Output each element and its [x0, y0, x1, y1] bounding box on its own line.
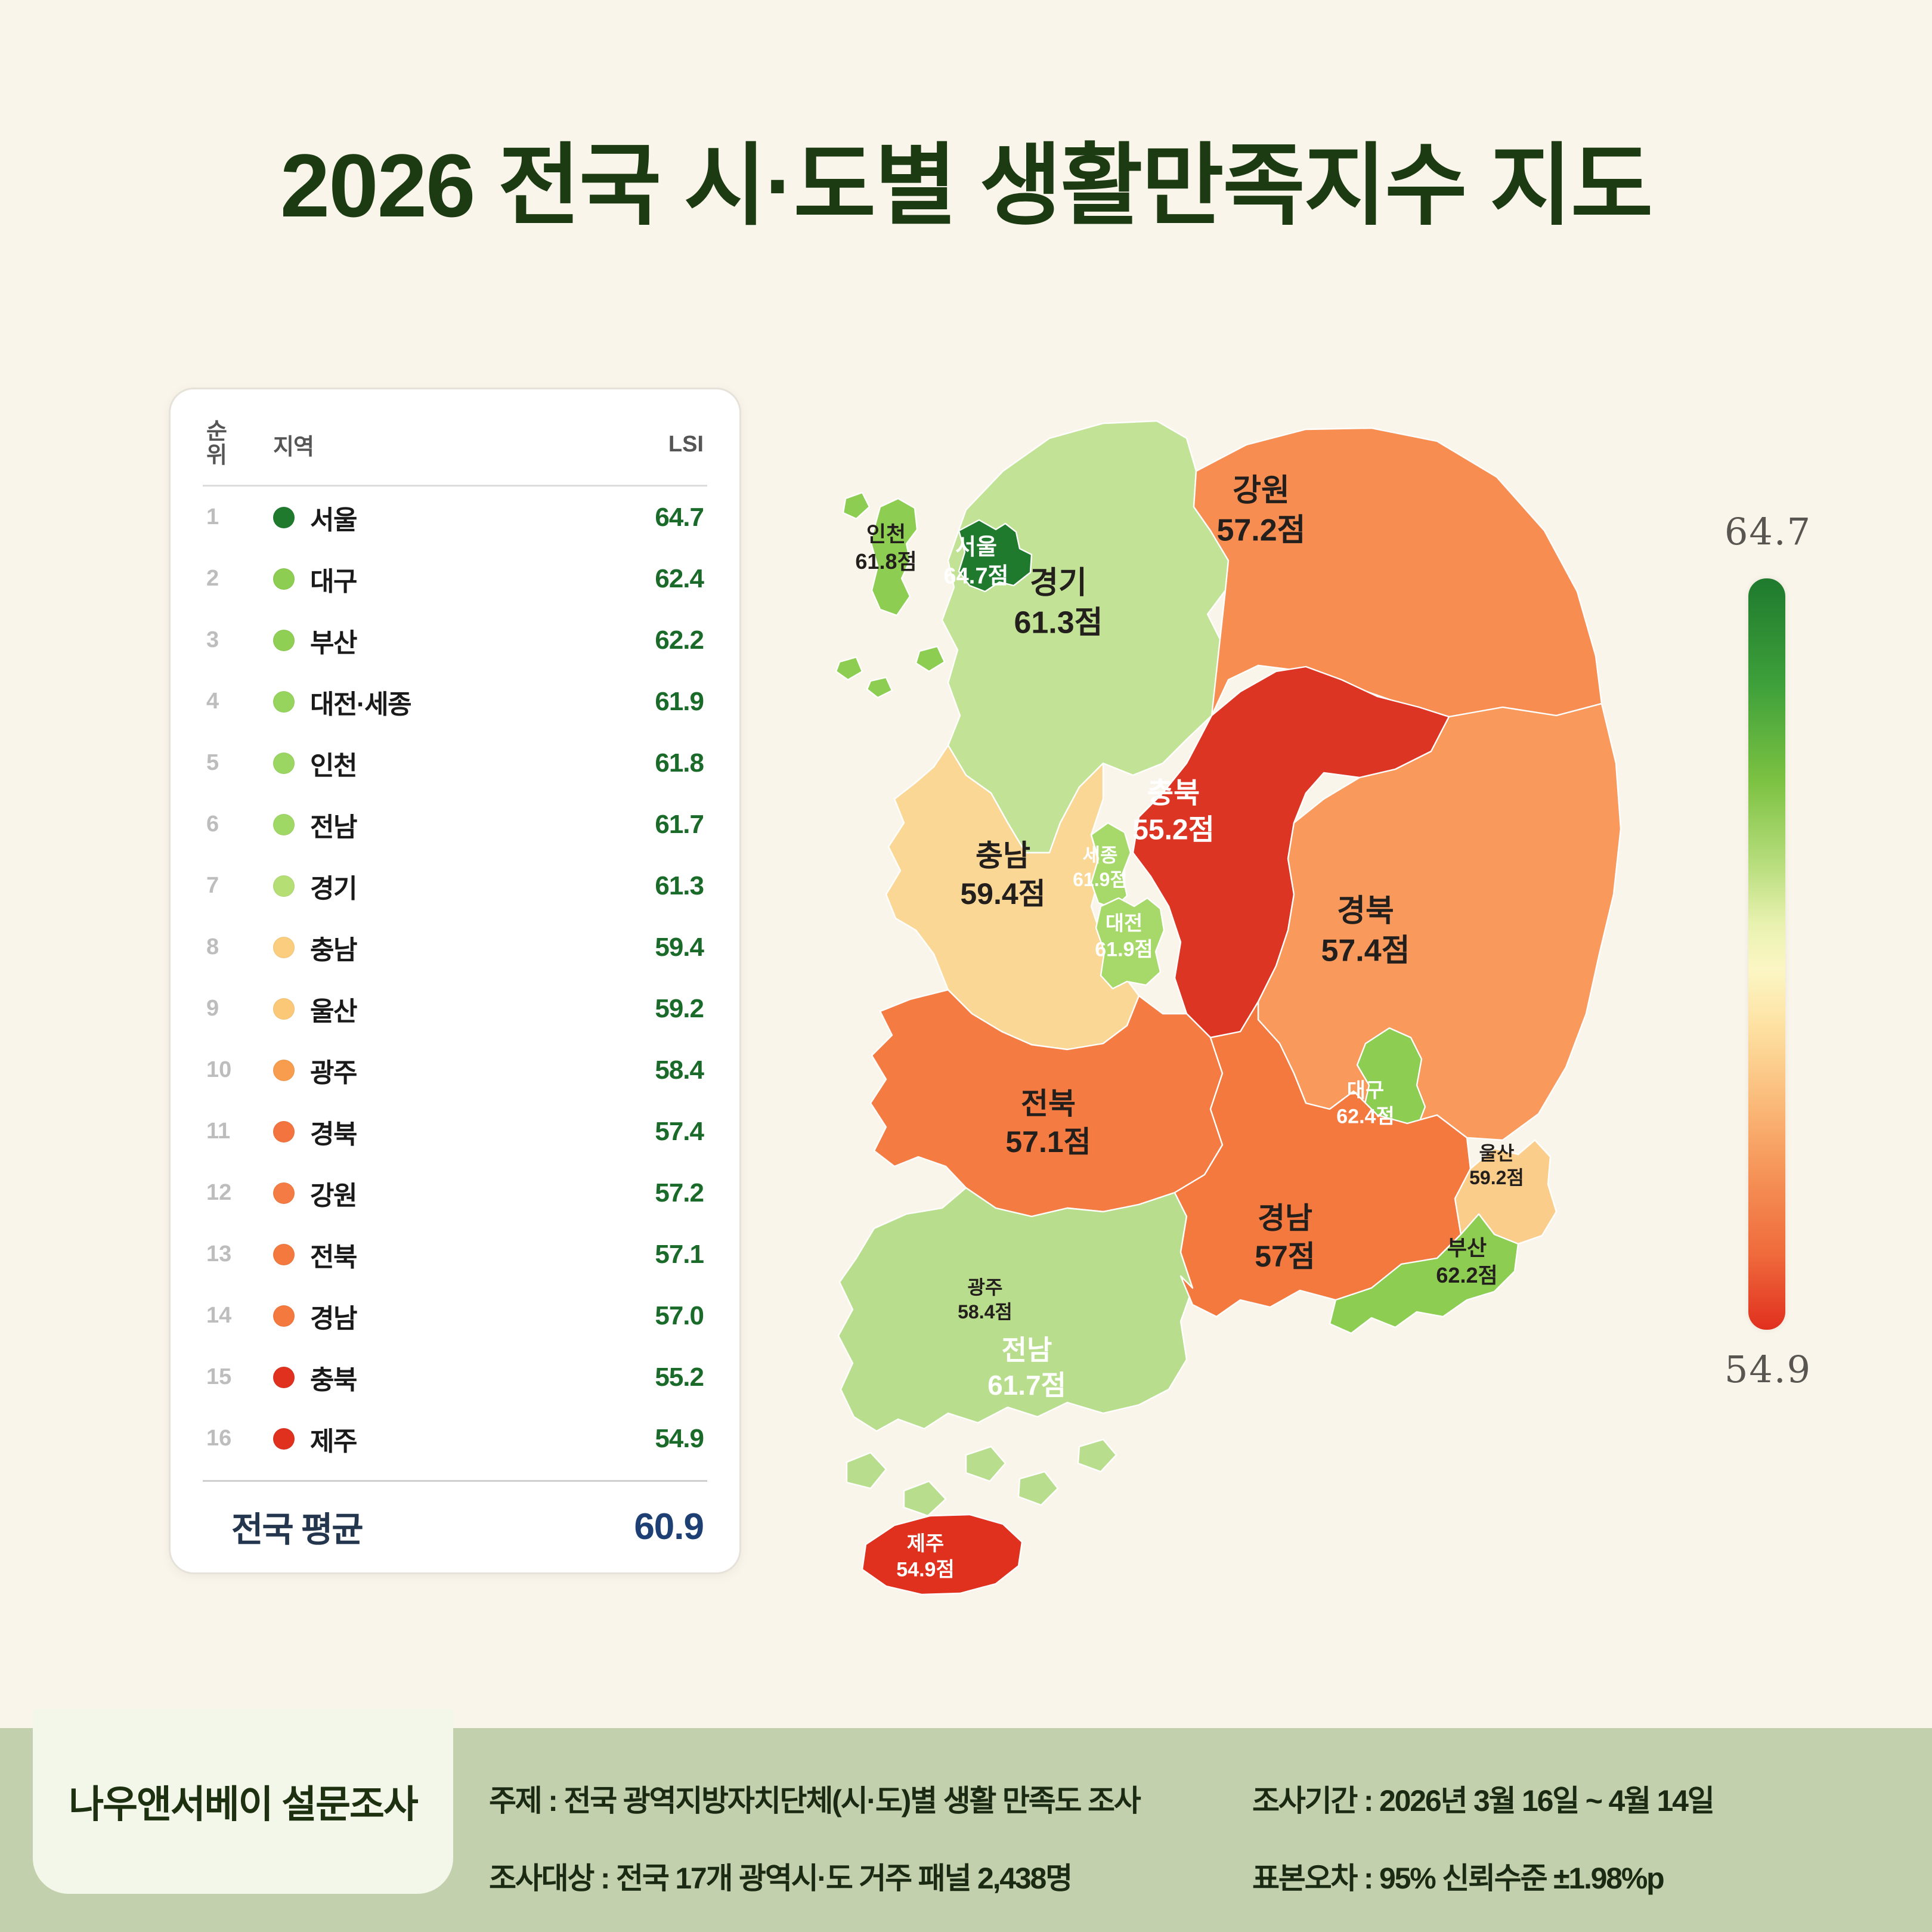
table-row: 6전남61.7: [206, 794, 704, 855]
region-label: 부산: [310, 621, 357, 660]
column-header-lsi: LSI: [590, 432, 704, 457]
table-row: 9울산59.2: [206, 978, 704, 1039]
column-header-region: 지역: [273, 428, 590, 461]
choropleth-map: 인천61.8점서울64.7점경기61.3점강원57.2점충북55.2점충남59.…: [769, 382, 1664, 1729]
lsi-value: 61.9: [590, 687, 704, 717]
color-swatch-dot-icon: [273, 937, 295, 958]
map-label-name-incheon: 인천: [866, 522, 906, 546]
survey-margin: 표본오차 : 95% 신뢰수준 ±1.98%p: [1252, 1854, 1908, 1897]
table-row: 5인천61.8: [206, 732, 704, 794]
map-label-score-daegu: 62.4점: [1336, 1106, 1394, 1128]
map-label-name-gyeongbuk: 경북: [1337, 894, 1394, 928]
color-swatch-dot-icon: [273, 875, 295, 897]
map-label-name-jeonbuk: 전북: [1021, 1087, 1076, 1120]
color-swatch-dot-icon: [273, 1060, 295, 1081]
rank-number: 2: [206, 566, 273, 592]
map-label-name-ulsan: 울산: [1479, 1143, 1515, 1164]
color-swatch-dot-icon: [273, 507, 295, 528]
region-cell: 전남: [273, 806, 590, 844]
color-swatch-dot-icon: [273, 691, 295, 713]
table-row: 7경기61.3: [206, 855, 704, 917]
region-cell: 강원: [273, 1174, 590, 1212]
color-swatch-dot-icon: [273, 998, 295, 1020]
color-swatch-dot-icon: [273, 630, 295, 651]
map-label-name-gangwon: 강원: [1233, 473, 1290, 508]
page-title: 2026 전국 시·도별 생활만족지수 지도: [0, 113, 1932, 243]
table-row: 4대전·세종61.9: [206, 671, 704, 732]
map-label-score-gangwon: 57.2점: [1216, 513, 1305, 548]
color-swatch-dot-icon: [273, 1121, 295, 1143]
map-regions: [836, 421, 1621, 1594]
map-label-score-chungbuk: 55.2점: [1132, 814, 1215, 846]
map-label-score-gyeonggi: 61.3점: [1014, 606, 1103, 640]
ranking-card: 순 위 지역 LSI 1서울64.72대구62.43부산62.24대전·세종61…: [169, 388, 741, 1574]
rank-number: 6: [206, 812, 273, 837]
color-swatch-dot-icon: [273, 1428, 295, 1450]
map-label-score-seoul: 64.7점: [944, 564, 1009, 589]
lsi-value: 62.2: [590, 626, 704, 655]
region-label: 경기: [310, 867, 357, 905]
region-cell: 인천: [273, 744, 590, 782]
map-label-name-sejong: 세종: [1083, 844, 1118, 866]
region-cell: 충남: [273, 928, 590, 967]
region-cell: 광주: [273, 1051, 590, 1089]
rank-number: 4: [206, 689, 273, 714]
color-swatch-dot-icon: [273, 1182, 295, 1204]
rank-number: 7: [206, 873, 273, 899]
region-cell: 경남: [273, 1297, 590, 1335]
column-header-rank: 순 위: [206, 420, 273, 467]
region-label: 강원: [310, 1174, 357, 1212]
region-label: 대구: [310, 560, 357, 598]
region-label: 대전·세종: [310, 683, 411, 721]
table-row: 12강원57.2: [206, 1162, 704, 1224]
table-row: 1서울64.7: [206, 487, 704, 548]
map-label-score-busan: 62.2점: [1436, 1263, 1497, 1287]
map-label-score-sejong: 61.9점: [1073, 869, 1128, 890]
ranking-rows: 1서울64.72대구62.43부산62.24대전·세종61.95인천61.86전…: [206, 487, 704, 1469]
map-label-name-gyeonggi: 경기: [1030, 566, 1087, 600]
region-label: 경북: [310, 1113, 357, 1151]
rank-number: 12: [206, 1180, 273, 1206]
table-row: 14경남57.0: [206, 1285, 704, 1346]
lsi-value: 55.2: [590, 1363, 704, 1392]
region-label: 충북: [310, 1358, 357, 1397]
lsi-value: 58.4: [590, 1055, 704, 1085]
national-average-row: 전국 평균 60.9: [206, 1482, 704, 1571]
lsi-value: 61.8: [590, 748, 704, 778]
region-label: 경남: [310, 1297, 357, 1335]
color-swatch-dot-icon: [273, 568, 295, 590]
region-cell: 전북: [273, 1236, 590, 1274]
lsi-value: 64.7: [590, 503, 704, 532]
rank-number: 11: [206, 1119, 273, 1144]
survey-period: 조사기간 : 2026년 3월 16일 ~ 4월 14일: [1252, 1777, 1908, 1820]
region-cell: 부산: [273, 621, 590, 660]
region-label: 제주: [310, 1420, 357, 1458]
map-label-score-daejeon: 61.9점: [1095, 939, 1153, 961]
rank-number: 3: [206, 627, 273, 653]
map-label-score-jeju: 54.9점: [896, 1559, 954, 1581]
rank-number: 16: [206, 1426, 273, 1451]
region-cell: 울산: [273, 990, 590, 1028]
legend-gradient-bar: [1748, 578, 1785, 1330]
lsi-value: 54.9: [590, 1424, 704, 1454]
color-swatch-dot-icon: [273, 1244, 295, 1265]
table-row: 13전북57.1: [206, 1224, 704, 1285]
map-label-score-chungnam: 59.4점: [960, 877, 1045, 911]
region-cell: 서울: [273, 499, 590, 537]
region-cell: 대구: [273, 560, 590, 598]
lsi-value: 59.2: [590, 994, 704, 1024]
region-label: 인천: [310, 744, 357, 782]
table-row: 3부산62.2: [206, 609, 704, 671]
color-scale-legend: 64.7 54.9: [1693, 477, 1884, 1491]
infographic-root: 2026 전국 시·도별 생활만족지수 지도 순 위 지역 LSI 1서울64.…: [0, 0, 1932, 1932]
national-average-value: 60.9: [634, 1506, 704, 1548]
survey-topic: 주제 : 전국 광역지방자치단체(시·도)별 생활 만족도 조사: [489, 1777, 1252, 1820]
lsi-value: 57.2: [590, 1178, 704, 1208]
map-label-name-busan: 부산: [1447, 1236, 1487, 1260]
map-region-sejong[interactable]: [1091, 823, 1131, 909]
map-label-name-gyeongnam: 경남: [1258, 1202, 1312, 1235]
map-label-name-seoul: 서울: [955, 535, 997, 560]
table-row: 2대구62.4: [206, 548, 704, 609]
region-cell: 경기: [273, 867, 590, 905]
rank-number: 10: [206, 1057, 273, 1083]
map-label-name-jeju: 제주: [907, 1532, 945, 1555]
national-average-label: 전국 평균: [206, 1501, 363, 1552]
map-label-score-gyeongbuk: 57.4점: [1321, 934, 1410, 968]
survey-meta-grid: 주제 : 전국 광역지방자치단체(시·도)별 생활 만족도 조사 조사기간 : …: [489, 1763, 1908, 1912]
color-swatch-dot-icon: [273, 814, 295, 835]
lsi-value: 57.1: [590, 1240, 704, 1270]
map-label-score-gyeongnam: 57점: [1255, 1240, 1315, 1273]
survey-target: 조사대상 : 전국 17개 광역시·도 거주 패널 2,438명: [489, 1854, 1252, 1897]
rank-number: 9: [206, 996, 273, 1021]
table-row: 10광주58.4: [206, 1039, 704, 1101]
region-label: 전북: [310, 1236, 357, 1274]
table-row: 8충남59.4: [206, 917, 704, 978]
rank-number: 15: [206, 1364, 273, 1390]
map-label-name-daejeon: 대전: [1106, 912, 1143, 935]
color-swatch-dot-icon: [273, 1305, 295, 1327]
lsi-value: 57.0: [590, 1301, 704, 1331]
rank-number: 13: [206, 1241, 273, 1267]
map-label-score-gwangju: 58.4점: [958, 1301, 1013, 1323]
region-cell: 대전·세종: [273, 683, 590, 721]
region-label: 광주: [310, 1051, 357, 1089]
region-label: 울산: [310, 990, 357, 1028]
lsi-value: 57.4: [590, 1117, 704, 1147]
map-label-name-gwangju: 광주: [968, 1277, 1003, 1298]
region-cell: 충북: [273, 1358, 590, 1397]
rank-number: 8: [206, 934, 273, 960]
table-row: 11경북57.4: [206, 1101, 704, 1162]
region-cell: 경북: [273, 1113, 590, 1151]
table-row: 15충북55.2: [206, 1346, 704, 1408]
legend-min-label: 54.9: [1693, 1348, 1843, 1391]
lsi-value: 62.4: [590, 564, 704, 594]
survey-brand-label: 나우앤서베이 설문조사: [69, 1774, 417, 1829]
lsi-value: 61.7: [590, 810, 704, 840]
map-label-name-daegu: 대구: [1347, 1079, 1385, 1102]
color-swatch-dot-icon: [273, 753, 295, 774]
lsi-value: 59.4: [590, 933, 704, 962]
map-label-score-jeonnam: 61.7점: [987, 1370, 1066, 1401]
lsi-value: 61.3: [590, 871, 704, 901]
legend-max-label: 64.7: [1693, 510, 1843, 553]
map-label-name-chungnam: 충남: [976, 839, 1030, 872]
region-cell: 제주: [273, 1420, 590, 1458]
map-label-score-incheon: 61.8점: [855, 549, 917, 574]
region-label: 서울: [310, 499, 357, 537]
region-label: 충남: [310, 928, 357, 967]
ranking-table-header: 순 위 지역 LSI: [206, 389, 704, 485]
map-label-name-chungbuk: 충북: [1147, 778, 1200, 809]
rank-number: 14: [206, 1303, 273, 1329]
map-region-gangwon[interactable]: [1194, 428, 1602, 717]
rank-number: 5: [206, 750, 273, 776]
region-label: 전남: [310, 806, 357, 844]
survey-brand-badge: 나우앤서베이 설문조사: [33, 1709, 453, 1894]
color-swatch-dot-icon: [273, 1367, 295, 1388]
map-label-score-ulsan: 59.2점: [1469, 1167, 1524, 1188]
rank-number: 1: [206, 504, 273, 530]
map-label-score-jeonbuk: 57.1점: [1005, 1125, 1091, 1159]
table-row: 16제주54.9: [206, 1408, 704, 1469]
footer-bar: 나우앤서베이 설문조사 주제 : 전국 광역지방자치단체(시·도)별 생활 만족…: [0, 1728, 1932, 1932]
map-label-name-jeonnam: 전남: [1002, 1335, 1052, 1366]
